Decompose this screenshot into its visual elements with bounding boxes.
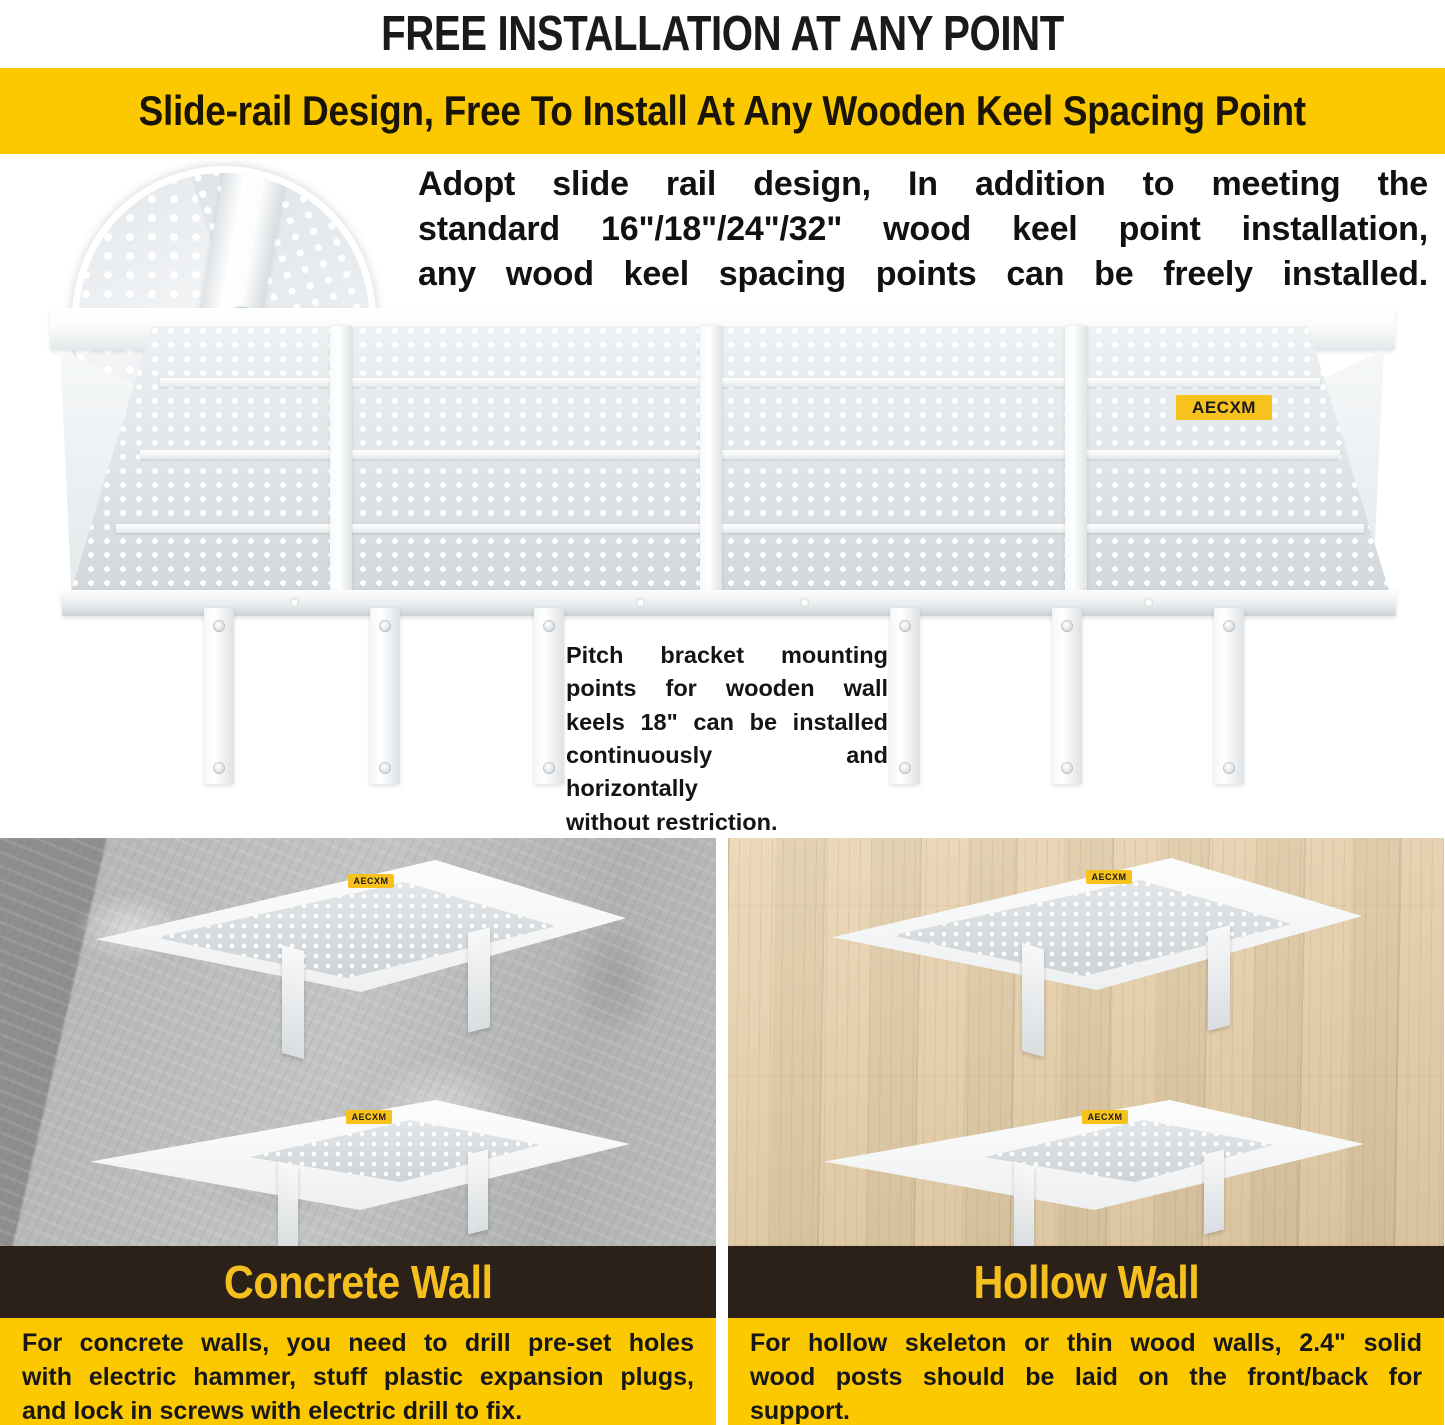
pitch-bracket-leg [1052,608,1082,784]
beam-screw-hole [800,598,809,607]
intro-line-1: Adopt slide rail design, In addition to … [418,162,1428,207]
shelf-unit-upper: AECXM [832,858,1362,1073]
hollow-wall-photo: AECXM AECXM [728,838,1444,1246]
hollow-desc-line-3: support. [750,1395,1422,1425]
brand-badge-photo: AECXM [346,1110,392,1124]
concrete-desc-line-3: and lock in screws with electric drill t… [22,1395,694,1425]
pitch-note-line-2: points for wooden wall [566,672,888,705]
card-hollow-wall: AECXM AECXM Hollow Wall For hollow skele… [728,838,1444,1425]
pitch-note-line-5: without restriction. [566,806,888,836]
pitch-note-line-3: keels 18" can be installed [566,706,888,739]
shelf-brace [468,927,490,1032]
concrete-wall-photo: AECXM AECXM [0,838,716,1246]
pitch-bracket-note: Pitch bracket mounting points for wooden… [566,639,888,836]
deck-slat [116,524,1364,533]
hollow-description-text: For hollow skeleton or thin wood walls, … [750,1327,1422,1425]
shelf-unit-lower: AECXM [90,1100,630,1246]
pitch-bracket-leg [890,608,920,784]
shelf-brace [1208,925,1230,1030]
hollow-desc-line-1: For hollow skeleton or thin wood walls, … [750,1327,1422,1361]
card-title-concrete: Concrete Wall [224,1255,493,1309]
shelf-brace [282,945,304,1059]
deck-rib [700,326,722,596]
concrete-desc-line-2: with electric hammer, stuff plastic expa… [22,1361,694,1395]
shelf-brace [1204,1150,1224,1235]
brand-badge-photo: AECXM [348,874,394,888]
page-headline: FREE INSTALLATION AT ANY POINT [130,0,1315,68]
deck-rib [330,326,352,596]
wall-type-cards: AECXM AECXM Concrete Wall For concrete w… [0,838,1445,1425]
card-description-hollow: For hollow skeleton or thin wood walls, … [728,1318,1444,1425]
card-title-hollow: Hollow Wall [973,1255,1199,1309]
beam-screw-hole [290,598,299,607]
deck-slat [140,450,1340,459]
deck-rib [1065,326,1087,596]
hollow-desc-line-2: wood posts should be laid on the front/b… [750,1361,1422,1395]
shelf-brace [468,1150,488,1235]
shelf-unit-lower: AECXM [824,1100,1364,1246]
card-description-concrete: For concrete walls, you need to drill pr… [0,1318,716,1425]
shelf-front-beam [62,590,1396,616]
pitch-bracket-leg [370,608,400,784]
intro-line-2: standard 16"/18"/24"/32" wood keel point… [418,207,1428,252]
concrete-desc-line-1: For concrete walls, you need to drill pr… [22,1327,694,1361]
shelf-unit-upper: AECXM [96,860,626,1075]
card-title-bar-hollow: Hollow Wall [728,1246,1444,1318]
pitch-note-line-1: Pitch bracket mounting [566,639,888,672]
shelf-brace [278,1161,298,1246]
brand-badge-photo: AECXM [1082,1110,1128,1124]
brand-badge: AECXM [1176,395,1272,420]
pitch-note-line-4: continuously and horizontally [566,739,888,806]
perforated-deck [70,326,1390,594]
concrete-description-text: For concrete walls, you need to drill pr… [22,1327,694,1425]
brand-badge-photo: AECXM [1086,870,1132,884]
subtitle-banner: Slide-rail Design, Free To Install At An… [0,68,1445,154]
pitch-bracket-leg [1214,608,1244,784]
card-concrete-wall: AECXM AECXM Concrete Wall For concrete w… [0,838,716,1425]
beam-screw-hole [636,598,645,607]
pitch-bracket-leg [534,608,564,784]
pitch-note-measure: 18" [640,709,677,735]
shelf-brace [1014,1161,1034,1246]
product-diagram-panel: Adopt slide rail design, In addition to … [0,154,1445,836]
card-title-bar-concrete: Concrete Wall [0,1246,716,1318]
beam-screw-hole [1144,598,1153,607]
pitch-bracket-leg [204,608,234,784]
subtitle-text: Slide-rail Design, Free To Install At An… [139,87,1306,135]
shelf-brace [1022,943,1044,1057]
